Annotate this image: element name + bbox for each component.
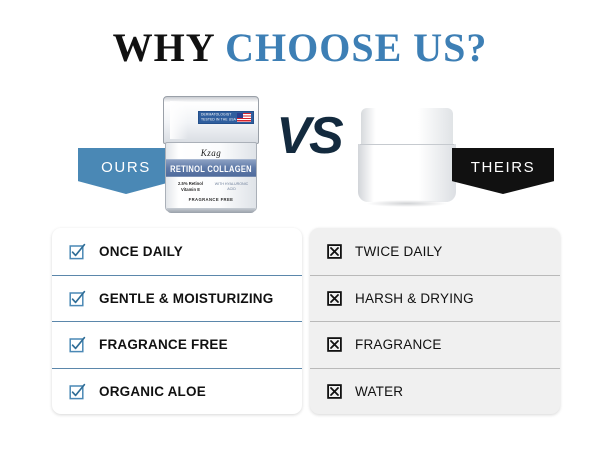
spec-hyaluronic: WITH HYALURONIC ACID (211, 182, 252, 192)
list-item-label: WATER (355, 384, 403, 399)
checkbox-x-icon (327, 337, 342, 352)
checkbox-checked-icon (69, 290, 86, 307)
list-item-label: GENTLE & MOISTURIZING (99, 291, 273, 306)
competitor-jar-body (358, 144, 456, 202)
list-item-label: TWICE DAILY (355, 244, 442, 259)
list-item: FRAGRANCE (310, 321, 560, 368)
vs-label: VS (276, 106, 342, 166)
checkbox-x-icon (327, 244, 342, 259)
list-item: GENTLE & MOISTURIZING (52, 275, 302, 322)
page-title: WHY CHOOSE US? (0, 24, 600, 71)
us-flag-icon (237, 113, 251, 122)
competitor-jar-shadow (366, 200, 448, 207)
ours-banner-label: OURS (101, 159, 151, 176)
title-part-choose-us: CHOOSE US? (225, 25, 487, 70)
competitor-jar-seam (360, 144, 454, 145)
badge-text: DERMATOLOGIST TESTED IN THE USA (199, 113, 237, 122)
jar-spec-row: 2.5% Retinol Vitamin E WITH HYALURONIC A… (166, 181, 256, 194)
list-item-label: FRAGRANCE FREE (99, 337, 228, 352)
our-product-jar: DERMATOLOGIST TESTED IN THE USA Kzag RET… (163, 96, 259, 214)
list-item-label: ONCE DAILY (99, 244, 183, 259)
jar-label: Kzag RETINOL COLLAGEN 2.5% Retinol Vitam… (165, 142, 257, 212)
jar-base (167, 208, 255, 213)
spec-actives: 2.5% Retinol Vitamin E (170, 181, 211, 194)
product-name: RETINOL COLLAGEN (166, 159, 256, 177)
list-item: TWICE DAILY (310, 228, 560, 275)
hero-section: OURS DERMATOLOGIST TESTED IN THE USA Kza… (0, 88, 600, 223)
competitor-jar-lid (361, 108, 453, 146)
list-item: ONCE DAILY (52, 228, 302, 275)
checkbox-x-icon (327, 291, 342, 306)
theirs-feature-card: TWICE DAILY HARSH & DRYING FRAGRANCE WAT… (310, 228, 560, 414)
ours-banner: OURS (78, 148, 174, 194)
comparison-section: ONCE DAILY GENTLE & MOISTURIZING FRAGRAN… (0, 228, 600, 423)
list-item: WATER (310, 368, 560, 415)
list-item-label: HARSH & DRYING (355, 291, 474, 306)
theirs-banner: THEIRS (452, 148, 554, 194)
jar-fragrance-free-text: FRAGRANCE FREE (166, 197, 256, 202)
list-item-label: ORGANIC ALOE (99, 384, 206, 399)
list-item: HARSH & DRYING (310, 275, 560, 322)
list-item: FRAGRANCE FREE (52, 321, 302, 368)
list-item: ORGANIC ALOE (52, 368, 302, 415)
jar-lid: DERMATOLOGIST TESTED IN THE USA (163, 96, 259, 144)
checkbox-checked-icon (69, 336, 86, 353)
title-part-why: WHY (113, 25, 226, 70)
dermatologist-badge: DERMATOLOGIST TESTED IN THE USA (198, 111, 254, 124)
ours-feature-card: ONCE DAILY GENTLE & MOISTURIZING FRAGRAN… (52, 228, 302, 414)
brand-name: Kzag (166, 148, 256, 158)
checkbox-x-icon (327, 384, 342, 399)
competitor-jar (358, 108, 456, 208)
checkbox-checked-icon (69, 383, 86, 400)
checkbox-checked-icon (69, 243, 86, 260)
list-item-label: FRAGRANCE (355, 337, 442, 352)
theirs-banner-label: THEIRS (471, 159, 536, 176)
